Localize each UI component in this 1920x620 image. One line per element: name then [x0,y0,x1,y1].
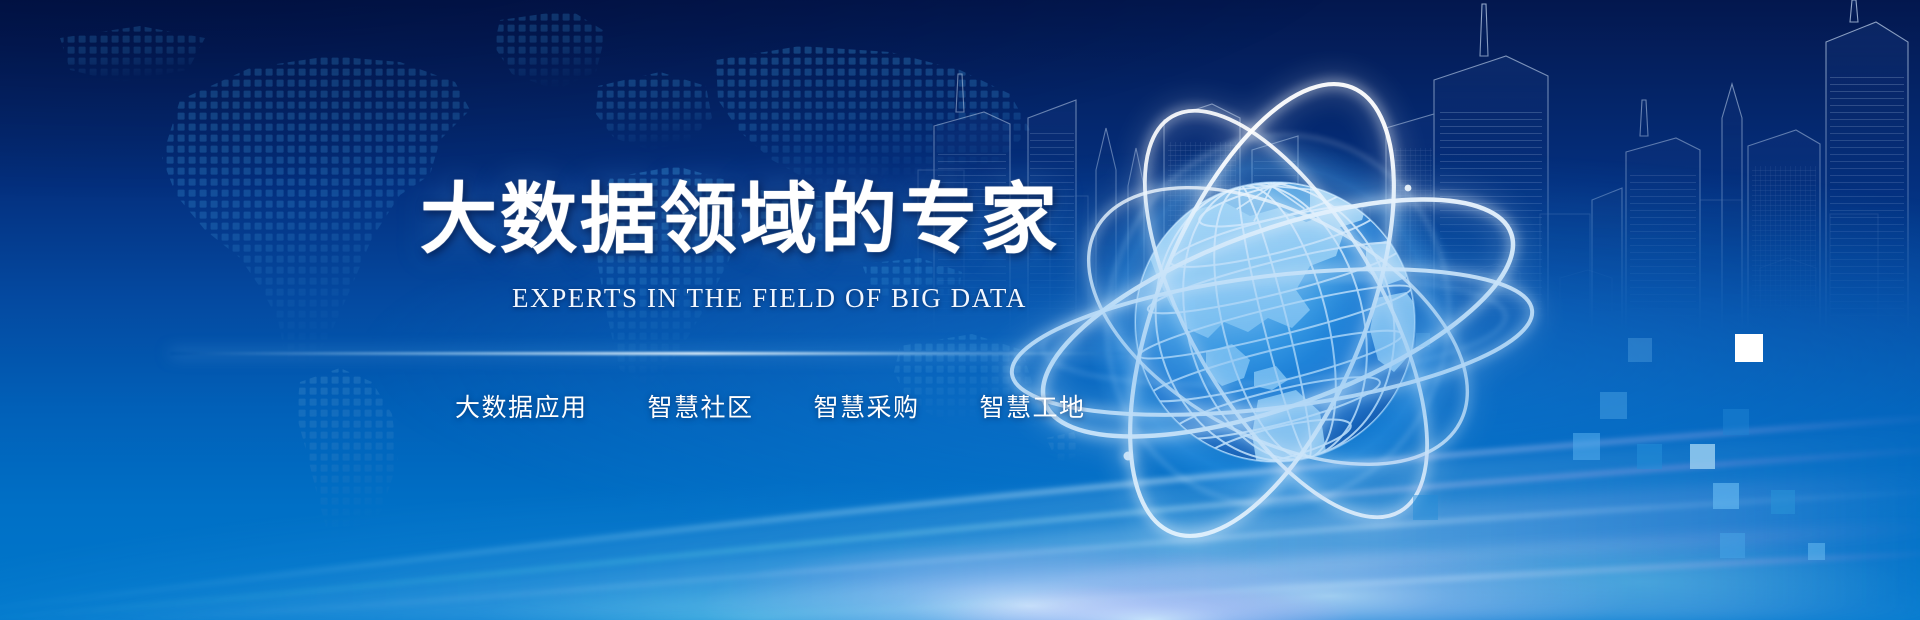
decorative-square [1720,533,1745,558]
nav-item-smart-construction-site[interactable]: 智慧工地 [980,388,1086,424]
decorative-square [1628,338,1652,362]
nav-item-big-data-application[interactable]: 大数据应用 [455,388,588,424]
hero-nav: 大数据应用 智慧社区 智慧采购 智慧工地 [455,388,1086,424]
decorative-square [1600,392,1627,419]
decorative-square [1808,543,1825,560]
page-title: 大数据领域的专家 [420,158,1060,269]
decorative-square [1690,444,1715,469]
globe-network-icon [1010,60,1540,560]
page-subtitle: EXPERTS IN THE FIELD OF BIG DATA [512,283,1027,314]
decorative-square [1713,483,1739,509]
decorative-square [1637,444,1662,469]
decorative-square [1416,333,1430,347]
dotted-world-map-icon [0,0,1100,550]
decorative-square [1573,433,1600,460]
decorative-square-white [1735,334,1763,362]
decorative-square [1771,490,1795,514]
light-sweep-decoration [0,320,1920,620]
nav-item-smart-community[interactable]: 智慧社区 [648,388,754,424]
headline-underglow [170,352,1130,355]
decorative-square [1413,495,1438,520]
decorative-square [1723,409,1749,435]
nav-item-smart-procurement[interactable]: 智慧采购 [814,388,920,424]
hero-banner: 大数据领域的专家 EXPERTS IN THE FIELD OF BIG DAT… [0,0,1920,620]
